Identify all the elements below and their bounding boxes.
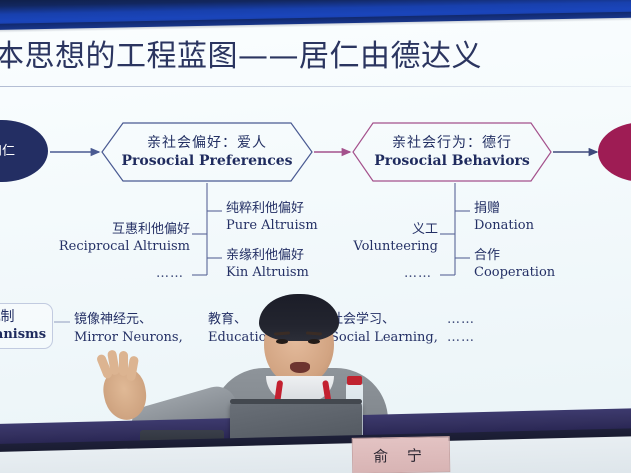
speaker-mouth bbox=[290, 362, 310, 373]
kin-altruism-en: Kin Altruism bbox=[226, 264, 309, 281]
behavior-parent-item: 义工 Volunteering bbox=[341, 221, 438, 255]
pure-altruism-en: Pure Altruism bbox=[226, 217, 318, 234]
mechanisms-label-en: Mechanisms bbox=[0, 326, 46, 343]
mechanisms-ellipsis-cn: …… bbox=[447, 312, 475, 327]
preferences-label-en: Prosocial Preferences bbox=[121, 152, 292, 170]
behaviors-label-en: Prosocial Behaviors bbox=[374, 152, 530, 170]
mechanisms-label-cn: 机制 bbox=[0, 309, 15, 326]
cooperation-en: Cooperation bbox=[474, 264, 555, 281]
reciprocal-altruism-cn: 互惠利他偏好 bbox=[28, 221, 190, 238]
mechanisms-box: 机制 Mechanisms bbox=[0, 303, 53, 349]
node-left-ellipse-label: 和仁 bbox=[0, 144, 15, 159]
mirror-neurons-en: Mirror Neurons, bbox=[74, 329, 183, 347]
behavior-child-donation: 捐赠 Donation bbox=[474, 200, 534, 234]
pure-altruism-cn: 纯粹利他偏好 bbox=[226, 200, 318, 217]
preference-child-kin-altruism: 亲缘利他偏好 Kin Altruism bbox=[226, 247, 309, 281]
donation-en: Donation bbox=[474, 217, 534, 234]
behavior-ellipsis: …… bbox=[404, 266, 432, 281]
laptop-hinge bbox=[230, 399, 362, 404]
preference-ellipsis: …… bbox=[156, 266, 184, 281]
nameplate: 俞 宁 bbox=[352, 436, 451, 473]
nameplate-text: 俞 宁 bbox=[373, 444, 429, 466]
behaviors-label-cn: 亲社会行为：德行 bbox=[392, 134, 512, 152]
preference-parent-item: 互惠利他偏好 Reciprocal Altruism bbox=[28, 221, 190, 255]
cooperation-cn: 合作 bbox=[474, 247, 555, 264]
volunteering-en: Volunteering bbox=[341, 238, 438, 255]
volunteering-cn: 义工 bbox=[341, 221, 438, 238]
water-bottle-cap bbox=[347, 376, 362, 385]
preference-child-pure-altruism: 纯粹利他偏好 Pure Altruism bbox=[226, 200, 318, 234]
speaker-eye-right bbox=[308, 339, 320, 344]
node-prosocial-preferences: 亲社会偏好：爱人 Prosocial Preferences bbox=[101, 122, 313, 182]
reciprocal-altruism-en: Reciprocal Altruism bbox=[28, 238, 190, 255]
behavior-child-cooperation: 合作 Cooperation bbox=[474, 247, 555, 281]
node-prosocial-behaviors: 亲社会行为：德行 Prosocial Behaviors bbox=[352, 122, 552, 182]
mechanisms-ellipsis-en: …… bbox=[447, 330, 475, 345]
preferences-label-cn: 亲社会偏好：爱人 bbox=[147, 134, 267, 152]
donation-cn: 捐赠 bbox=[474, 200, 534, 217]
mirror-neurons-cn: 镜像神经元、 bbox=[74, 311, 183, 329]
speaker-hair bbox=[259, 294, 339, 341]
video-frame: 本思想的工程蓝图——居仁由德达义 bbox=[0, 0, 631, 473]
speaker-eye-left bbox=[276, 339, 288, 344]
kin-altruism-cn: 亲缘利他偏好 bbox=[226, 247, 309, 264]
mechanism-item-mirror-neurons: 镜像神经元、 Mirror Neurons, bbox=[74, 311, 183, 347]
